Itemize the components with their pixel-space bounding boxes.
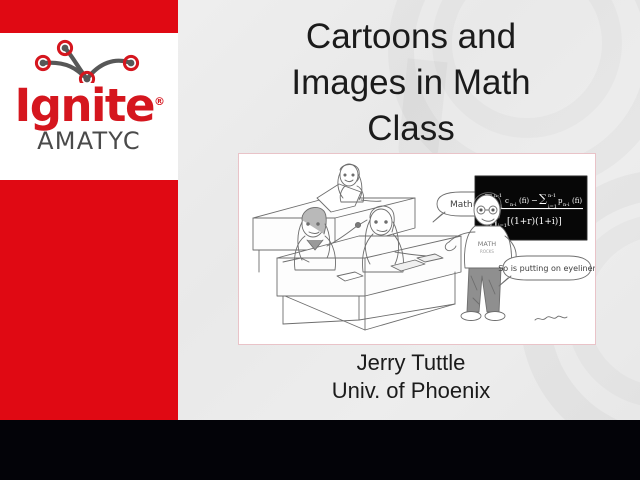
byline: Jerry Tuttle Univ. of Phoenix (196, 349, 626, 405)
svg-text:(fi): (fi) (519, 197, 529, 205)
svg-text:c: c (505, 197, 509, 205)
registered-mark: ® (154, 95, 164, 108)
presenter-affiliation: Univ. of Phoenix (196, 377, 626, 405)
svg-text:∑: ∑ (539, 192, 547, 205)
presenter-name: Jerry Tuttle (196, 349, 626, 377)
title-line-2: Images in Math (196, 60, 626, 106)
ignite-amatyc-logo: Ignite® AMATYC (0, 33, 178, 180)
classroom-cartoon-image: Math is hard ∑ n-1 i=1 c n-i (fi) − ∑ n-… (239, 154, 595, 344)
left-red-rail: Ignite® AMATYC (0, 0, 178, 420)
ignite-spark-icon (19, 39, 159, 83)
footer-bar: O’REILLY® (0, 420, 640, 480)
speech-bubble-right-text: So is putting on eyeliner (498, 264, 595, 273)
ignite-wordmark-text: Ignite (15, 79, 154, 132)
svg-text:i=1: i=1 (548, 204, 557, 210)
svg-text:n-1: n-1 (548, 193, 556, 199)
ignite-wordmark: Ignite® (15, 79, 164, 129)
page-title: Cartoons and Images in Math Class (196, 14, 626, 152)
svg-text:n-i: n-i (563, 202, 570, 208)
teacher-shirt-subtext: ROCKS (480, 249, 494, 254)
slide-canvas: Ignite® AMATYC Cartoons and Images in Ma… (0, 0, 640, 480)
svg-text:[(1+r)(1+i)]: [(1+r)(1+i)] (507, 216, 562, 227)
illustration-frame: Math is hard ∑ n-1 i=1 c n-i (fi) − ∑ n-… (238, 153, 596, 345)
svg-text:−: − (531, 196, 538, 205)
svg-text:n-i: n-i (510, 202, 517, 208)
title-line-1: Cartoons and (196, 14, 626, 60)
svg-text:(fi): (fi) (572, 197, 582, 205)
title-line-3: Class (196, 106, 626, 152)
teacher-shirt-text: MATH (478, 240, 497, 248)
